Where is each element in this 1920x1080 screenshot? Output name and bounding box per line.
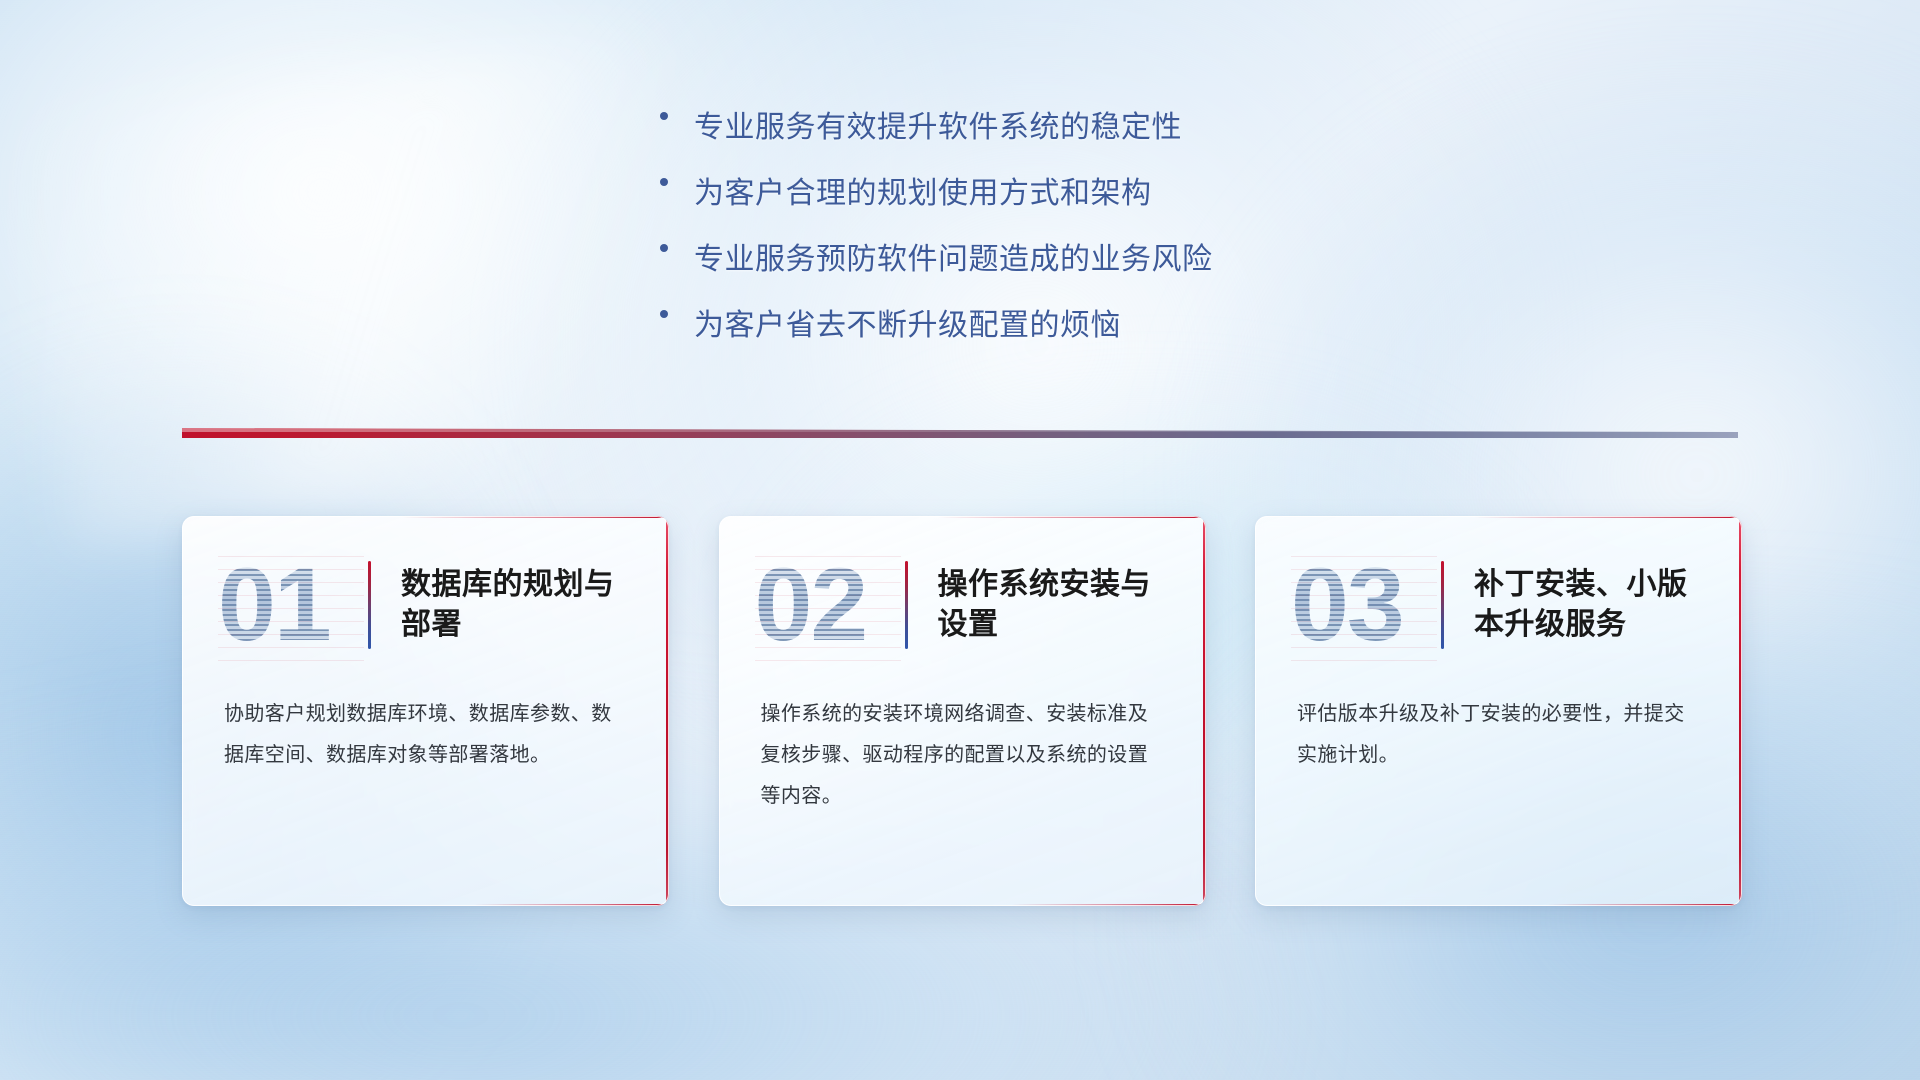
- card-accent-bottom: [474, 904, 669, 906]
- card-header: 01 数据库的规划与部署: [182, 516, 669, 694]
- bullet-dot-icon: [660, 242, 694, 252]
- card-header: 03 补丁安装、小版本升级服务: [1255, 516, 1742, 694]
- card-number-watermark: 02: [755, 549, 901, 661]
- benefits-bullet-list: 专业服务有效提升软件系统的稳定性 为客户合理的规划使用方式和架构 专业服务预防软…: [660, 110, 1420, 344]
- bullet-item-label: 为客户合理的规划使用方式和架构: [694, 176, 1420, 212]
- bullet-item-label: 专业服务预防软件问题造成的业务风险: [694, 242, 1420, 278]
- service-card[interactable]: 01 数据库的规划与部署 协助客户规划数据库环境、数据库参数、数据库空间、数据库…: [182, 516, 669, 906]
- card-title: 数据库的规划与部署: [401, 565, 635, 645]
- card-accent-bottom: [1011, 904, 1206, 906]
- bullet-item: 为客户省去不断升级配置的烦恼: [660, 308, 1420, 344]
- card-description: 协助客户规划数据库环境、数据库参数、数据库空间、数据库对象等部署落地。: [182, 694, 669, 776]
- card-number-watermark: 03: [1291, 549, 1437, 661]
- bullet-dot-icon: [660, 110, 694, 120]
- card-accent-bottom: [1547, 904, 1742, 906]
- card-description: 评估版本升级及补丁安装的必要性，并提交实施计划。: [1255, 694, 1742, 776]
- bullet-item-label: 专业服务有效提升软件系统的稳定性: [694, 110, 1420, 146]
- card-divider-bar: [905, 561, 908, 649]
- bullet-item: 为客户合理的规划使用方式和架构: [660, 176, 1420, 212]
- section-divider: [182, 424, 1738, 446]
- card-header: 02 操作系统安装与设置: [719, 516, 1206, 694]
- bullet-dot-icon: [660, 308, 694, 318]
- card-divider-bar: [1441, 561, 1444, 649]
- card-title: 补丁安装、小版本升级服务: [1474, 565, 1708, 645]
- bullet-item: 专业服务预防软件问题造成的业务风险: [660, 242, 1420, 278]
- card-number-watermark: 01: [218, 549, 364, 661]
- bullet-item: 专业服务有效提升软件系统的稳定性: [660, 110, 1420, 146]
- service-card[interactable]: 03 补丁安装、小版本升级服务 评估版本升级及补丁安装的必要性，并提交实施计划。: [1255, 516, 1742, 906]
- service-card-list: 01 数据库的规划与部署 协助客户规划数据库环境、数据库参数、数据库空间、数据库…: [182, 516, 1742, 912]
- service-card[interactable]: 02 操作系统安装与设置 操作系统的安装环境网络调查、安装标准及复核步骤、驱动程…: [719, 516, 1206, 906]
- bullet-dot-icon: [660, 176, 694, 186]
- card-title: 操作系统安装与设置: [938, 565, 1172, 645]
- divider-highlight: [182, 428, 1738, 432]
- card-description: 操作系统的安装环境网络调查、安装标准及复核步骤、驱动程序的配置以及系统的设置等内…: [719, 694, 1206, 817]
- card-divider-bar: [368, 561, 371, 649]
- bullet-item-label: 为客户省去不断升级配置的烦恼: [694, 308, 1420, 344]
